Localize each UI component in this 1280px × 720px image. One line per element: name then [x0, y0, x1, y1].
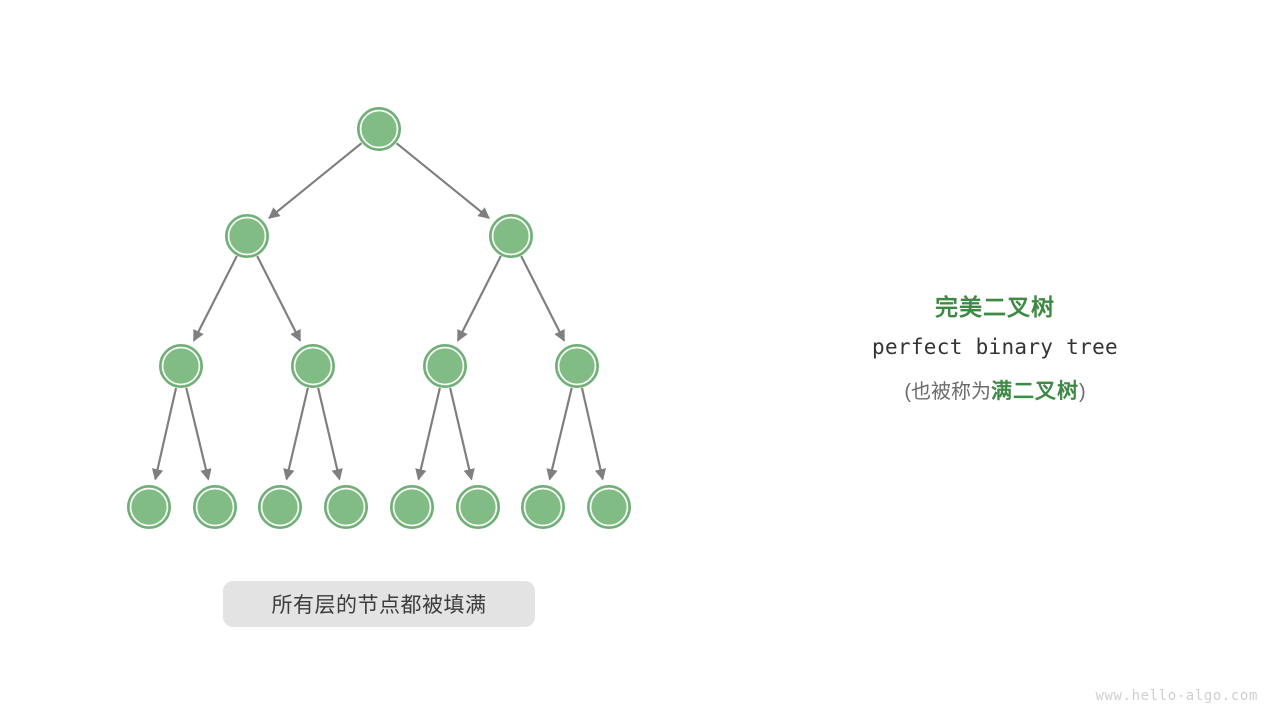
tree-edge: [550, 388, 572, 479]
tree-node-body: [296, 349, 330, 383]
figure-canvas: 所有层的节点都被填满 完美二叉树 perfect binary tree (也被…: [0, 0, 1280, 720]
tree-edge: [582, 388, 603, 479]
tree-edge: [418, 388, 439, 479]
caption-label: 所有层的节点都被填满: [272, 589, 487, 619]
binary-tree-diagram: [0, 0, 700, 570]
tree-node[interactable]: [259, 486, 301, 528]
tree-node[interactable]: [292, 345, 334, 387]
tree-edge: [194, 256, 237, 341]
tree-node[interactable]: [325, 486, 367, 528]
tree-edge: [521, 256, 564, 341]
watermark-label: www.hello-algo.com: [1095, 688, 1258, 704]
legend-panel: 完美二叉树 perfect binary tree (也被称为满二叉树): [800, 290, 1190, 414]
tree-node-body: [526, 490, 560, 524]
tree-node-body: [461, 490, 495, 524]
tree-node[interactable]: [522, 486, 564, 528]
tree-edge: [257, 256, 300, 341]
legend-alias-suffix: ): [1079, 381, 1086, 403]
tree-node-body: [560, 349, 594, 383]
tree-node-body: [198, 490, 232, 524]
tree-edge-group: [155, 143, 602, 479]
tree-edge: [269, 143, 361, 218]
tree-node-body: [592, 490, 626, 524]
tree-node-body: [263, 490, 297, 524]
tree-node[interactable]: [457, 486, 499, 528]
tree-edge: [186, 388, 208, 479]
tree-node[interactable]: [490, 215, 532, 257]
tree-node-body: [362, 112, 396, 146]
tree-node-body: [395, 490, 429, 524]
tree-node[interactable]: [226, 215, 268, 257]
caption-badge: 所有层的节点都被填满: [223, 581, 535, 627]
tree-edge: [155, 388, 176, 479]
tree-node[interactable]: [128, 486, 170, 528]
tree-edge: [450, 388, 471, 479]
tree-node[interactable]: [588, 486, 630, 528]
legend-alias: (也被称为满二叉树): [800, 370, 1190, 414]
tree-node[interactable]: [556, 345, 598, 387]
legend-subtitle: perfect binary tree: [800, 324, 1190, 370]
tree-node-body: [494, 219, 528, 253]
tree-node[interactable]: [424, 345, 466, 387]
tree-node-body: [164, 349, 198, 383]
legend-title: 完美二叉树: [800, 290, 1190, 324]
legend-alias-prefix: (也被称为: [904, 381, 991, 403]
tree-node-body: [230, 219, 264, 253]
tree-edge: [458, 256, 501, 341]
tree-node[interactable]: [391, 486, 433, 528]
tree-edge: [318, 388, 339, 479]
tree-edge: [396, 143, 488, 218]
tree-node[interactable]: [194, 486, 236, 528]
tree-node-group: [128, 108, 630, 528]
tree-node-body: [132, 490, 166, 524]
tree-node-body: [329, 490, 363, 524]
tree-node-body: [428, 349, 462, 383]
tree-node[interactable]: [358, 108, 400, 150]
legend-alias-strong: 满二叉树: [991, 380, 1079, 403]
tree-edge: [286, 388, 307, 479]
tree-node[interactable]: [160, 345, 202, 387]
